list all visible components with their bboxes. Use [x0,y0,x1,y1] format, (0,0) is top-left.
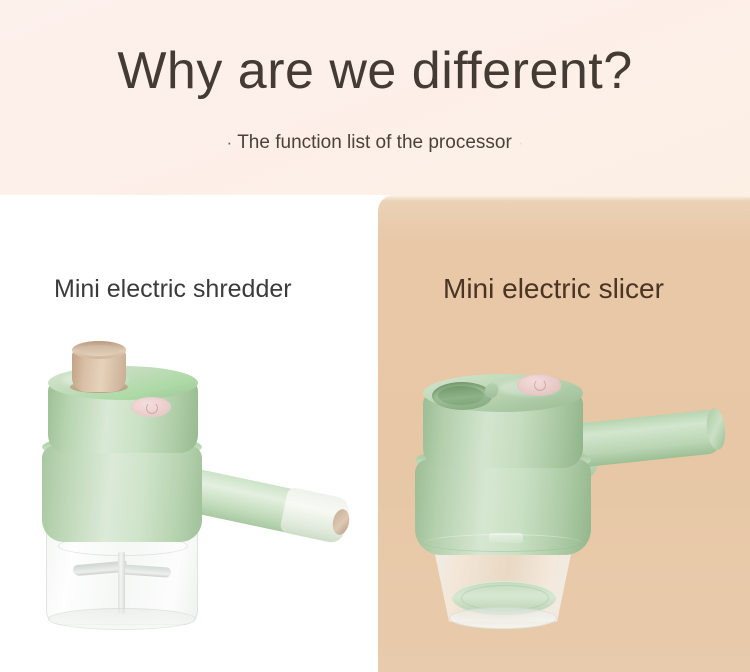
shredder-body [42,446,202,542]
shredder-funnel-opening [79,345,119,356]
power-icon [146,402,158,414]
power-icon [534,379,546,391]
subtitle-dot-left: · [227,133,233,152]
subtitle-dot-right: · [518,133,524,152]
header-banner: Why are we different? ·The function list… [0,0,750,195]
slicer-container-base [449,607,557,629]
page-title: Why are we different? [0,41,750,101]
page-subtitle: ·The function list of the processor· [0,130,750,156]
slicer-feed-hole-inner [438,386,484,405]
shredder-bowl-base [48,608,196,630]
product-comparison-page: Why are we different? ·The function list… [0,0,750,672]
shredder-blade-shaft [118,552,125,614]
slicer-release-tab[interactable] [489,533,523,543]
left-product-label: Mini electric shredder [54,274,292,304]
right-product-label: Mini electric slicer [443,272,664,306]
subtitle-text: The function list of the processor [237,132,512,153]
